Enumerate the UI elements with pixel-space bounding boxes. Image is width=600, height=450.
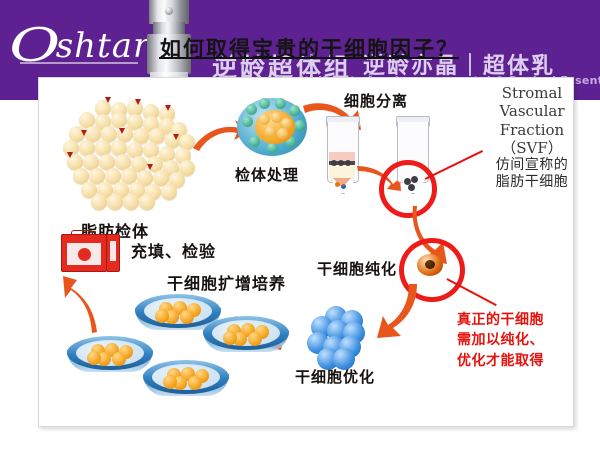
slide-canvas: Oshtar 逆龄超体组 逆龄亦晶｜超体乳 Essence Revitalisa… <box>0 0 600 450</box>
red-annotation-line-1: 真正的干细胞 <box>457 310 593 330</box>
svf-line-6: 脂肪干细胞 <box>469 174 595 191</box>
svf-line-4: （SVF） <box>469 139 595 157</box>
label-stem-cell-optimization: 干细胞优化 <box>295 366 375 387</box>
red-annotation-line-2: 需加以纯化、 <box>457 330 593 350</box>
kit-pen <box>106 234 120 272</box>
label-stem-cell-expansion: 干细胞扩增培养 <box>167 270 286 294</box>
petri-dish <box>143 360 229 402</box>
label-stem-cell-purification: 干细胞纯化 <box>317 258 397 279</box>
fat-tissue-cluster-icon <box>61 100 201 212</box>
bottle-cap <box>149 0 189 24</box>
svf-annotation: Stromal Vascular Fraction （SVF） 仿间宣称的 脂肪… <box>469 84 595 191</box>
label-sample-processing: 检体处理 <box>235 164 299 185</box>
petri-dish <box>67 336 153 378</box>
title-underline <box>159 57 459 59</box>
petri-dish <box>203 316 289 358</box>
red-annotation: 真正的干细胞 需加以纯化、 优化才能取得 <box>457 310 593 371</box>
test-tube-before <box>327 116 357 194</box>
optimized-stem-cell-cluster-icon <box>307 306 369 362</box>
content-card: 脂肪检体 检体处理 细胞 <box>38 77 574 427</box>
product-kit-icon <box>61 232 119 270</box>
kit-red-dot <box>78 248 91 261</box>
red-annotation-line-3: 优化才能取得 <box>457 351 593 371</box>
arrow-expansion-to-fill <box>61 272 103 334</box>
svf-line-3: Fraction <box>469 121 595 139</box>
arrow-purification-to-optimization <box>371 282 423 342</box>
label-fill-and-test: 充填、检验 <box>131 238 216 262</box>
processed-cell-icon <box>237 96 307 158</box>
brand-logo-text: shtar <box>56 26 151 66</box>
brand-logo-underline <box>20 62 138 64</box>
label-cell-separation: 细胞分离 <box>344 90 408 111</box>
svf-line-1: Stromal <box>469 84 595 102</box>
svf-line-5: 仿间宣称的 <box>469 157 595 174</box>
svf-line-2: Vascular <box>469 102 595 120</box>
kit-box <box>61 234 107 272</box>
